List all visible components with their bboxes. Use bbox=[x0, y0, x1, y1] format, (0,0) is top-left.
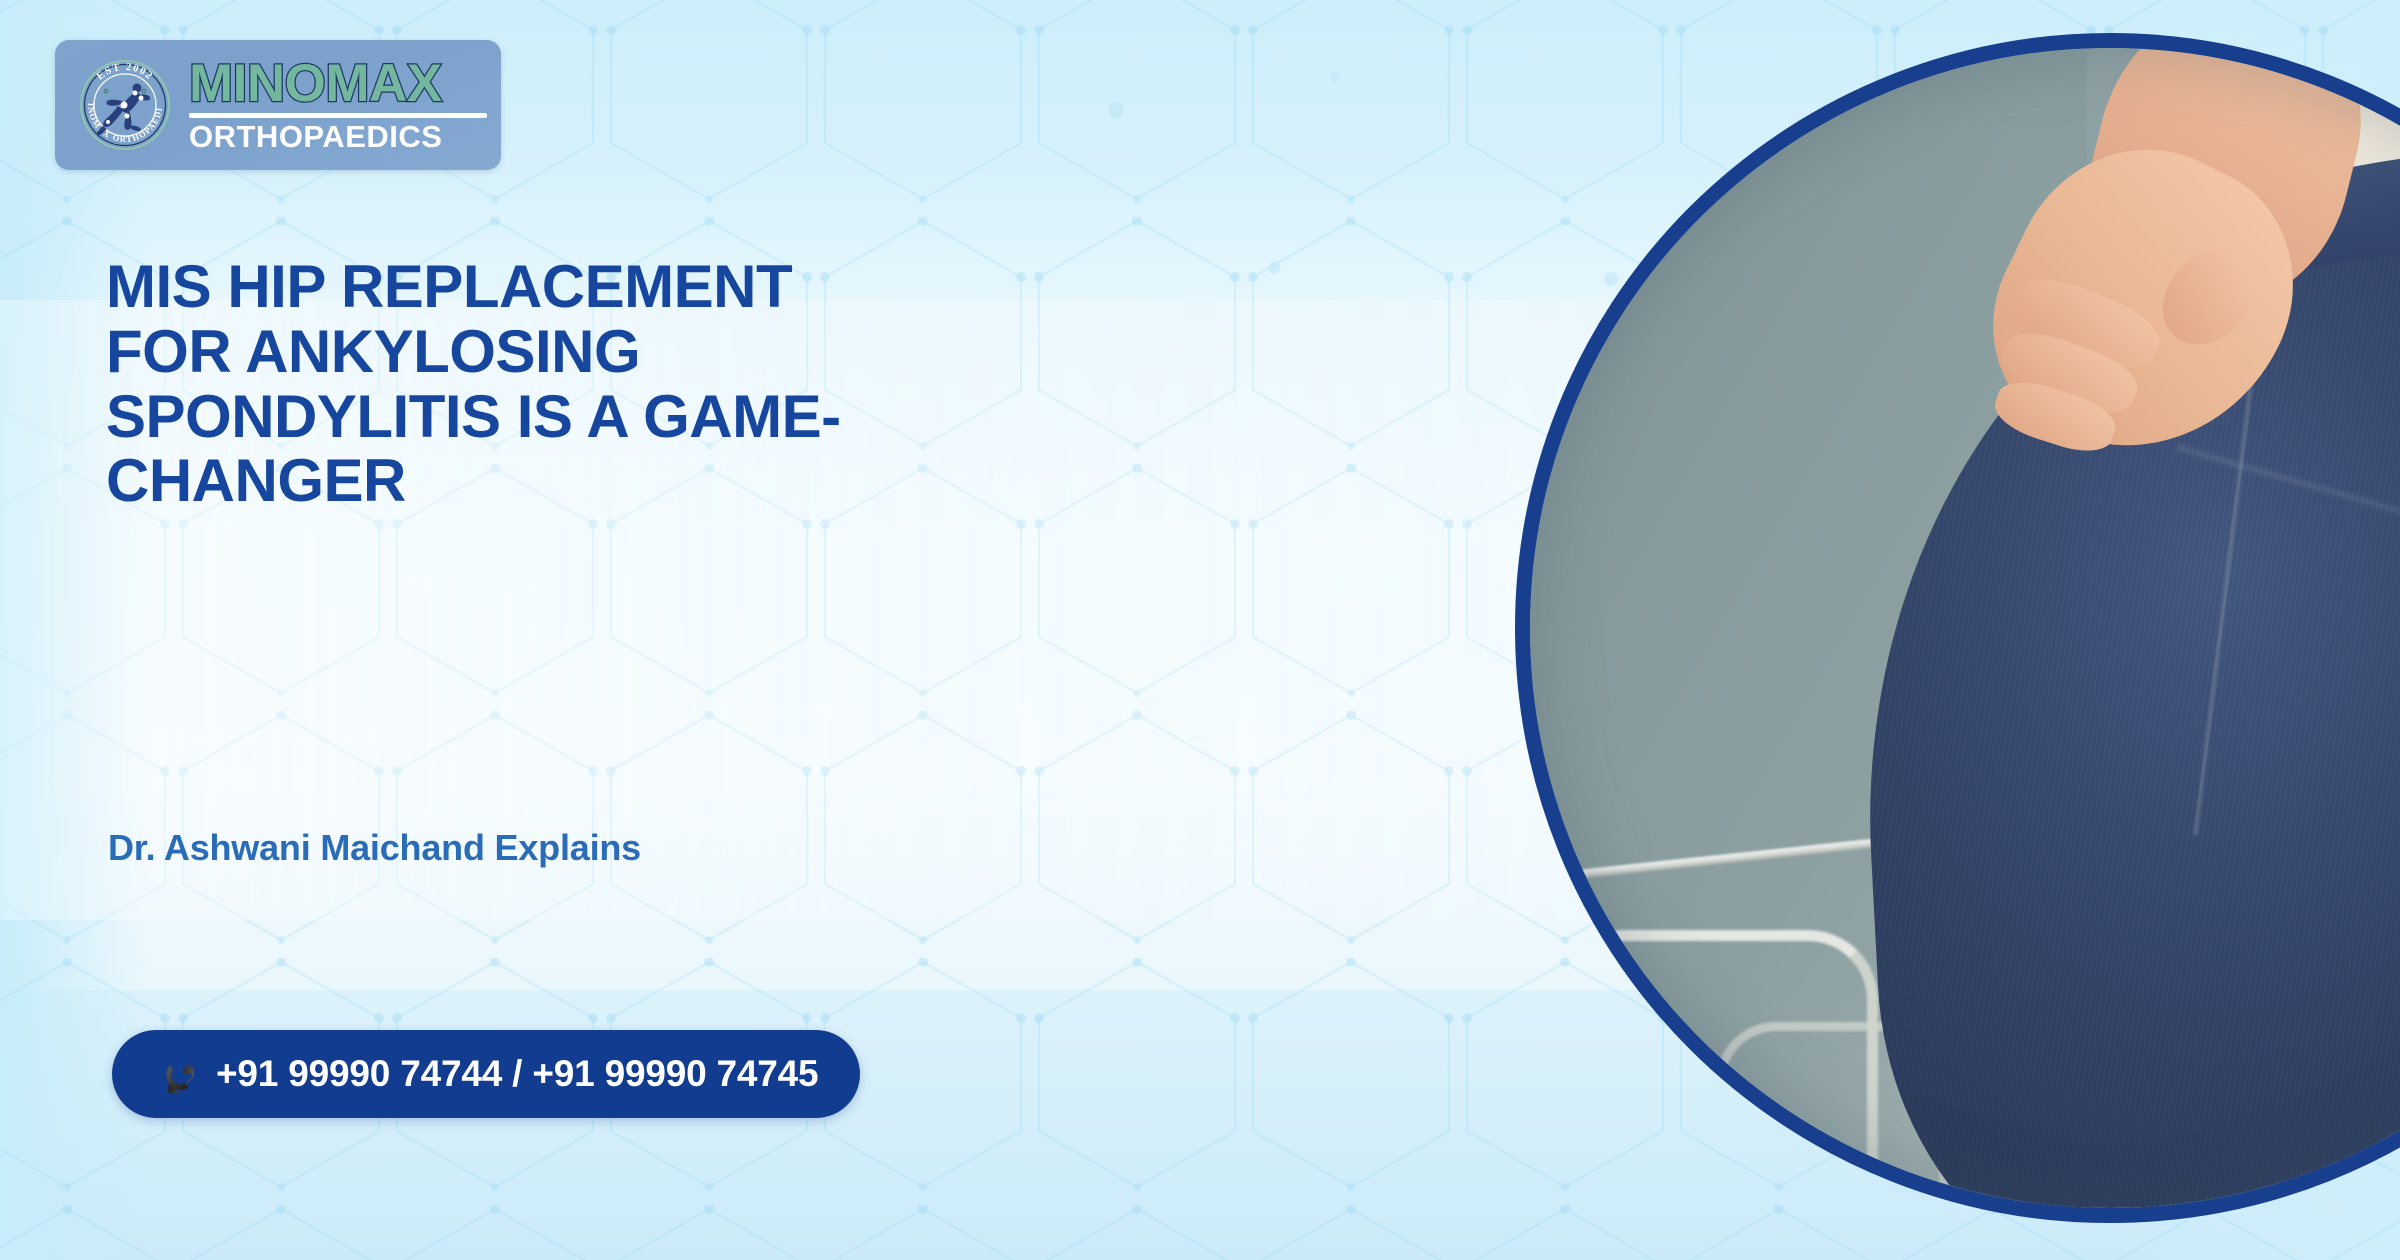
hero-photo-image bbox=[1530, 48, 2400, 1208]
running-figure-icon: EST 2002 MINOMAX ORTHOPAEDICS bbox=[75, 55, 175, 155]
headline-line-3: SPONDYLITIS IS A GAME- bbox=[106, 385, 966, 450]
headline-line-1: MIS HIP REPLACEMENT bbox=[106, 255, 966, 320]
brand-name-main: MINOMAX bbox=[189, 58, 487, 110]
page-title: MIS HIP REPLACEMENT FOR ANKYLOSING SPOND… bbox=[106, 255, 966, 514]
contact-phone-button[interactable]: +91 99990 74744 / +91 99990 74745 bbox=[112, 1030, 860, 1118]
contact-phone-numbers: +91 99990 74744 / +91 99990 74745 bbox=[216, 1053, 818, 1095]
brand-wordmark: MINOMAX ORTHOPAEDICS bbox=[189, 58, 487, 153]
subtitle-doctor-credit: Dr. Ashwani Maichand Explains bbox=[108, 827, 641, 869]
phone-handset-icon bbox=[154, 1054, 194, 1094]
brand-name-sub: ORTHOPAEDICS bbox=[189, 121, 487, 152]
hero-photo-circle bbox=[1515, 33, 2400, 1223]
brand-logo-plate[interactable]: EST 2002 MINOMAX ORTHOPAEDICS bbox=[55, 40, 501, 170]
brand-divider-rule bbox=[189, 113, 487, 118]
headline-line-4: CHANGER bbox=[106, 449, 966, 514]
headline-line-2: FOR ANKYLOSING bbox=[106, 320, 966, 385]
svg-text:EST 2002: EST 2002 bbox=[95, 62, 155, 83]
